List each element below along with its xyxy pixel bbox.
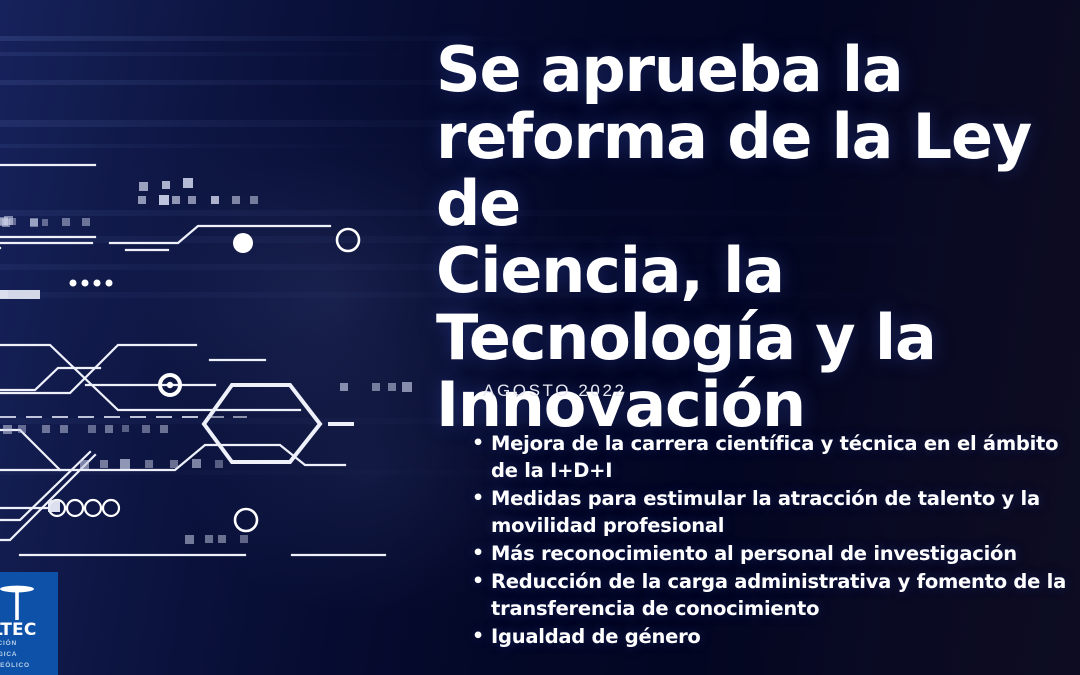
background-band	[0, 144, 420, 148]
logo-subtitle-line: R EÓLICO	[0, 662, 30, 669]
list-item: Igualdad de género	[455, 623, 1077, 650]
list-item: Más reconocimiento al personal de invest…	[455, 540, 1077, 567]
logo-brand-text: LTEC	[0, 620, 37, 640]
list-item: Mejora de la carrera científica y técnic…	[455, 430, 1077, 484]
circuit-node-filled	[233, 233, 253, 253]
logo-subtitle-line: ACIÓN	[0, 640, 17, 647]
list-item: Reducción de la carga administrativa y f…	[455, 568, 1077, 622]
date-label: AGOSTO 2022	[483, 381, 627, 401]
presentation-slide: Se aprueba la reforma de la Ley de Cienc…	[0, 0, 1080, 675]
title-line: Ciencia, la	[436, 234, 784, 307]
organization-logo: LTEC ACIÓN ÓGICA R EÓLICO	[0, 572, 58, 675]
title-line: Tecnología y la	[436, 301, 936, 374]
slide-content: Se aprueba la reforma de la Ley de Cienc…	[436, 0, 1080, 675]
background-band	[0, 52, 420, 56]
page-title: Se aprueba la reforma de la Ley de Cienc…	[436, 36, 1080, 438]
key-points-list: Mejora de la carrera científica y técnic…	[455, 430, 1077, 651]
title-line: Se aprueba la	[436, 33, 903, 106]
logo-subtitle-line: ÓGICA	[0, 651, 17, 658]
list-item: Medidas para estimular la atracción de t…	[455, 485, 1077, 539]
title-line: reforma de la Ley de	[436, 100, 1031, 240]
circuit-board-graphic	[0, 0, 420, 675]
wind-turbine-icon	[0, 580, 38, 622]
